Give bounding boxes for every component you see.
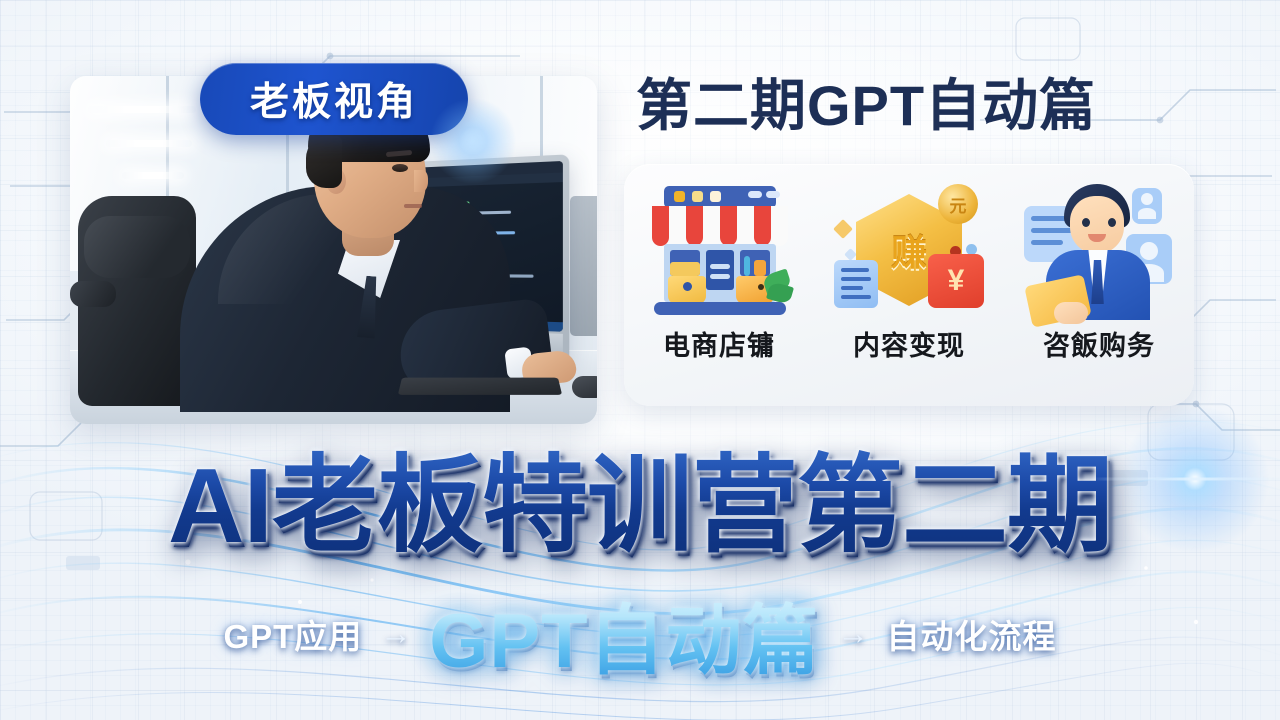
- arrow-right-icon-right: →: [838, 616, 869, 652]
- strip-left-label: GPT应用: [223, 610, 362, 658]
- coin-icon: 元: [938, 184, 978, 224]
- feature-label-ecommerce: 电商店镛: [663, 324, 775, 363]
- bottom-strip: GPT应用 → GPT自动篇 → 自动化流程: [0, 588, 1280, 680]
- arrow-right-icon-left: →: [380, 616, 411, 652]
- feature-card-consulting[interactable]: 咨飯购务: [1011, 180, 1187, 363]
- storefront-icon: [644, 180, 794, 320]
- boss-view-badge[interactable]: 老板视角: [200, 63, 468, 135]
- feature-panel: 电商店镛 赚 元 ¥ 内容变现: [624, 164, 1194, 406]
- section-heading-text: 第二期GPT自动篇: [636, 61, 1096, 142]
- section-heading: 第二期GPT自动篇: [636, 62, 1156, 140]
- consultant-icon: [1024, 180, 1174, 320]
- hex-money-text: 赚: [891, 224, 927, 276]
- strip-center-label: GPT自动篇: [429, 579, 819, 689]
- feature-card-monetization[interactable]: 赚 元 ¥ 内容变现: [821, 180, 997, 363]
- price-tag-icon: ¥: [928, 254, 984, 308]
- feature-card-ecommerce[interactable]: 电商店镛: [631, 180, 807, 363]
- feature-label-consulting: 咨飯购务: [1043, 324, 1155, 363]
- feature-label-monetization: 内容变现: [853, 324, 965, 363]
- money-hexagon-icon: 赚 元 ¥: [834, 180, 984, 320]
- strip-right-label: 自动化流程: [887, 610, 1057, 658]
- poster-canvas: 老板视角 第二期GPT自动篇: [0, 0, 1280, 720]
- boss-view-badge-label: 老板视角: [250, 71, 418, 127]
